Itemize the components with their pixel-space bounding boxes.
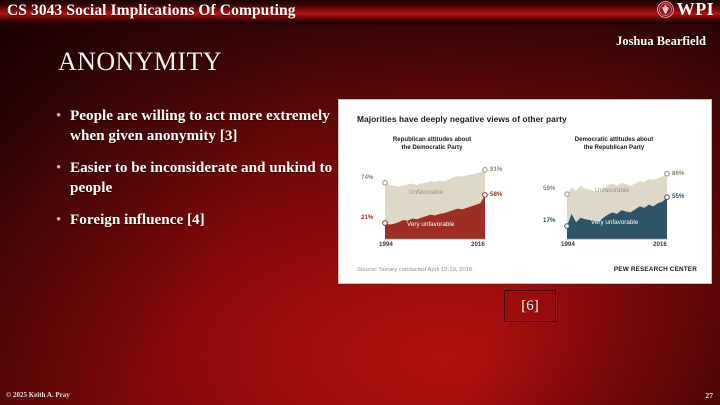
chart-subtitle: Democratic attitudes about the Republica… bbox=[549, 136, 679, 152]
wpi-seal-icon bbox=[657, 1, 674, 18]
chart-credit: PEW RESEARCH CENTER bbox=[614, 266, 697, 273]
area-label-very-unfavorable: Very unfavorable bbox=[591, 219, 638, 226]
marker-very-unfavorable-start bbox=[565, 224, 570, 229]
chart-subtitle-line1: Republican attitudes about bbox=[393, 136, 471, 143]
bullet-list: • People are willing to act more extreme… bbox=[56, 106, 348, 243]
bullet-text: People are willing to act more extremely… bbox=[70, 106, 348, 145]
chart-plot-area: 59% 86% 17% 55% Unfavorable Very unfavor… bbox=[539, 155, 689, 247]
area-label-very-unfavorable: Very unfavorable bbox=[407, 221, 454, 228]
author-name: Joshua Bearfield bbox=[616, 34, 706, 49]
slide-header-bar: CS 3043 Social Implications Of Computing… bbox=[0, 0, 720, 25]
x-axis-end-year: 2016 bbox=[471, 241, 485, 248]
bullet-text: Foreign influence [4] bbox=[70, 210, 205, 230]
marker-very-unfavorable-end bbox=[483, 193, 488, 198]
chart-subtitle: Republican attitudes about the Democrati… bbox=[367, 136, 497, 152]
citation-box[interactable]: [6] bbox=[504, 290, 556, 322]
label-very-unfavorable-start: 17% bbox=[543, 217, 555, 224]
x-axis-end-year: 2016 bbox=[653, 241, 667, 248]
list-item: • People are willing to act more extreme… bbox=[56, 106, 348, 145]
list-item: • Easier to be inconsiderate and unkind … bbox=[56, 158, 348, 197]
bullet-marker-icon: • bbox=[56, 210, 70, 230]
page-title: ANONYMITY bbox=[58, 47, 222, 77]
label-unfavorable-end: 86% bbox=[672, 170, 684, 177]
list-item: • Foreign influence [4] bbox=[56, 210, 348, 230]
bullet-marker-icon: • bbox=[56, 158, 70, 197]
marker-unfavorable-end bbox=[665, 171, 670, 176]
marker-very-unfavorable-end bbox=[665, 195, 670, 200]
x-axis-start-year: 1994 bbox=[561, 241, 575, 248]
label-unfavorable-end: 91% bbox=[490, 166, 502, 173]
chart-svg-republican bbox=[357, 155, 507, 247]
marker-very-unfavorable-start bbox=[383, 221, 388, 226]
bullet-text: Easier to be inconsiderate and unkind to… bbox=[70, 158, 348, 197]
wpi-wordmark: WPI bbox=[677, 1, 714, 18]
label-very-unfavorable-end: 55% bbox=[672, 193, 684, 200]
course-title: CS 3043 Social Implications Of Computing bbox=[7, 2, 296, 20]
copyright-text: © 2025 Keith A. Pray bbox=[6, 391, 70, 399]
chart-subtitle-line1: Democratic attitudes about bbox=[575, 136, 654, 143]
marker-unfavorable-start bbox=[565, 192, 570, 197]
label-very-unfavorable-start: 21% bbox=[361, 214, 373, 221]
slide-canvas: CS 3043 Social Implications Of Computing… bbox=[0, 0, 720, 405]
wpi-logo: WPI bbox=[657, 1, 714, 18]
chart-subtitle-line2: the Republican Party bbox=[584, 144, 645, 151]
chart-plot-area: 74% 91% 21% 58% Unfavorable Very unfavor… bbox=[357, 155, 507, 247]
pew-chart-image: Majorities have deeply negative views of… bbox=[338, 99, 712, 284]
bullet-marker-icon: • bbox=[56, 106, 70, 145]
marker-unfavorable-start bbox=[383, 180, 388, 185]
chart-svg-democrat bbox=[539, 155, 689, 247]
label-unfavorable-start: 59% bbox=[543, 185, 555, 192]
chart-title: Majorities have deeply negative views of… bbox=[357, 114, 567, 124]
page-number: 27 bbox=[705, 391, 713, 400]
chart-subtitle-line2: the Democratic Party bbox=[402, 144, 463, 151]
chart-source: Source: Survey conducted April 12-19, 20… bbox=[357, 267, 474, 273]
chart-panel-democrat: Democratic attitudes about the Republica… bbox=[539, 136, 689, 256]
label-unfavorable-start: 74% bbox=[361, 174, 373, 181]
slide-footer: © 2025 Keith A. Pray 27 bbox=[0, 388, 720, 405]
label-very-unfavorable-end: 58% bbox=[490, 191, 502, 198]
chart-panel-republican: Republican attitudes about the Democrati… bbox=[357, 136, 507, 256]
marker-unfavorable-end bbox=[483, 168, 488, 173]
x-axis-start-year: 1994 bbox=[379, 241, 393, 248]
area-label-unfavorable: Unfavorable bbox=[409, 189, 443, 196]
citation-label: [6] bbox=[521, 298, 539, 315]
area-label-unfavorable: Unfavorable bbox=[595, 187, 629, 194]
